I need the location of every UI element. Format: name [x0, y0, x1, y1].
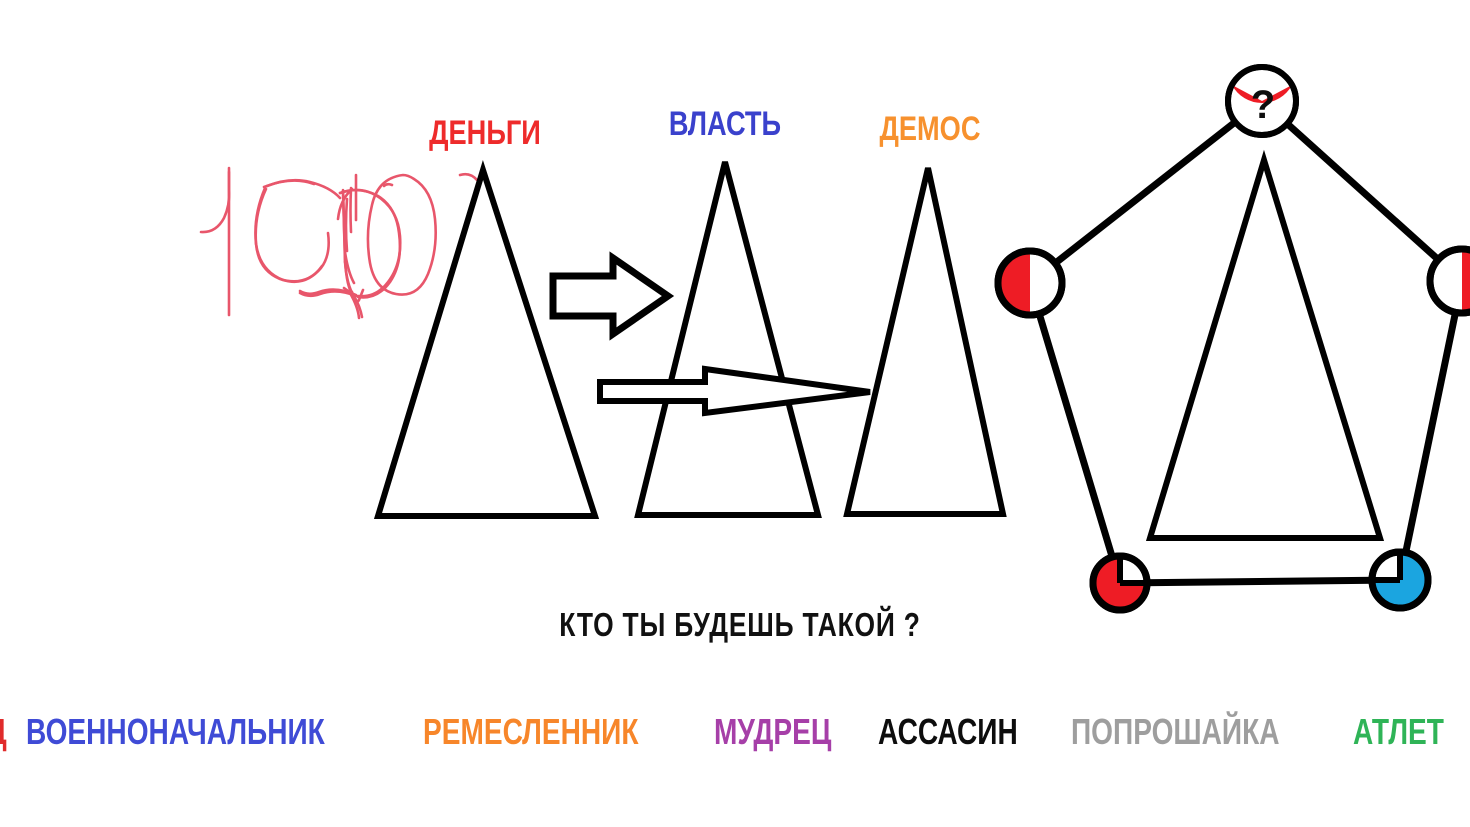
- edge-right-bottom: [1400, 281, 1462, 580]
- edge-bottom: [1120, 580, 1400, 583]
- pentagon-node-left[interactable]: [998, 251, 1062, 315]
- pentagon-node-bottom-right[interactable]: [1372, 552, 1428, 608]
- edge-top-left: [1030, 101, 1262, 283]
- edge-left-bottom: [1030, 283, 1120, 583]
- role-item[interactable]: ПОПРОШАЙКА: [1071, 712, 1280, 752]
- pyramid-group: [378, 162, 1003, 516]
- pyramid-demos: [847, 168, 1003, 514]
- pentagon-node-bottom-left[interactable]: [1093, 556, 1147, 610]
- pentagon-node-top[interactable]: ?: [1228, 67, 1296, 135]
- pentagon-node-right[interactable]: [1430, 249, 1470, 313]
- question-mark-icon: ?: [1251, 83, 1275, 127]
- role-item[interactable]: АТЛЕТ: [1353, 712, 1444, 752]
- role-item[interactable]: АССАСИН: [878, 712, 1018, 752]
- role-item[interactable]: ВОЕННОНАЧАЛЬНИК: [26, 712, 325, 752]
- arrow-money-to-power: [553, 258, 668, 334]
- pentagon-network: ?: [998, 67, 1470, 610]
- role-item[interactable]: РЕМЕСЛЕННИК: [423, 712, 638, 752]
- pyramid-dengi: [378, 170, 595, 516]
- pentagon-inner-pyramid: [1150, 160, 1380, 538]
- diagram-canvas: ? ДЕНЬГИ ВЛАСТЬ ДЕМОС КТО ТЫ БУДЕШЬ ТАКО…: [0, 0, 1470, 827]
- pyramid-label-money: ДЕНЬГИ: [401, 116, 569, 150]
- pyramid-label-power: ВЛАСТЬ: [645, 107, 805, 141]
- role-list: ЦВОЕННОНАЧАЛЬНИКРЕМЕСЛЕННИКМУДРЕЦАССАСИН…: [0, 712, 1186, 758]
- question-text: КТО ТЫ БУДЕШЬ ТАКОЙ ?: [548, 608, 932, 641]
- arrow-money-to-demos: [600, 369, 870, 413]
- pentagon-edges: [1030, 101, 1462, 583]
- role-item[interactable]: Ц: [0, 712, 7, 752]
- pyramid-label-demos: ДЕМОС: [854, 112, 1006, 146]
- pyramid-vlast: [638, 162, 818, 515]
- role-item[interactable]: МУДРЕЦ: [714, 712, 831, 752]
